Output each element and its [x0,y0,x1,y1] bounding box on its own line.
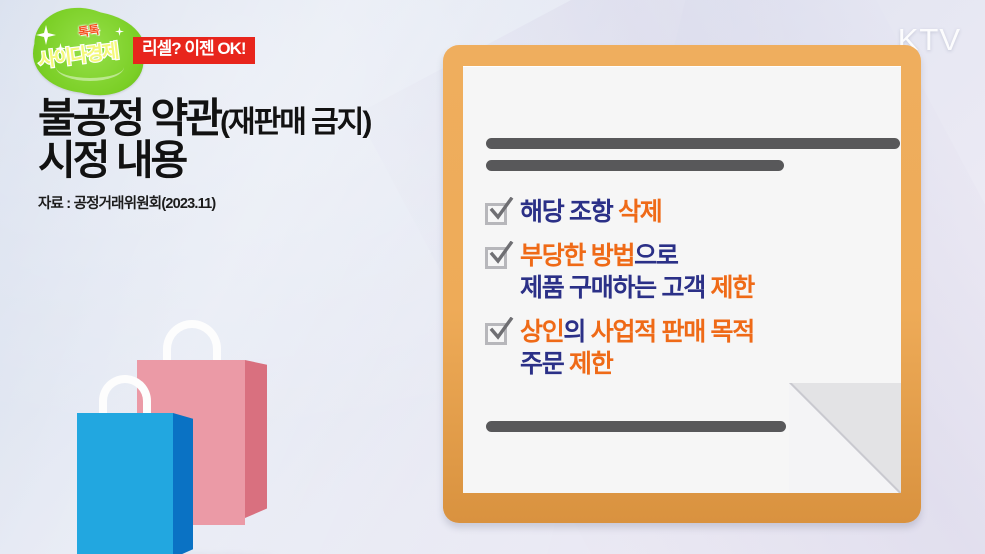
text-segment-highlight: 제한 [569,350,612,378]
text-segment-highlight: 상인 [520,318,563,346]
text-segment: 으로 [634,242,677,270]
program-logo: 톡톡 사이다경제 [22,8,146,92]
broadcast-graphic-stage: 톡톡 사이다경제 리셀? 이젠 OK! 불공정 약관(재판매 금지) 시정 내용… [0,0,985,554]
page-curl-decoration [789,383,901,493]
checkbox-checked-icon [485,201,510,226]
checklist-text-line: 부당한 방법으로 [520,240,754,272]
checklist-item: 해당 조항 삭제 [485,196,901,228]
text-segment: 주문 [520,350,569,378]
source-credit: 자료 : 공정거래위원회(2023.11) [38,192,458,213]
bag-front-panel [77,413,173,554]
checklist-item-text: 부당한 방법으로 제품 구매하는 고객 제한 [520,240,754,304]
checkbox-checked-icon [485,321,510,346]
card-paper: 해당 조항 삭제 부당한 방법으로 제품 구매하는 고객 제한 [463,66,901,493]
checklist-item-text: 해당 조항 삭제 [520,196,662,228]
checklist-text-line: 상인의 사업적 판매 목적 [520,316,754,348]
checklist-item: 부당한 방법으로 제품 구매하는 고객 제한 [485,240,901,304]
bag-side-panel [173,413,193,554]
headline-line-2: 시정 내용 [38,140,458,180]
shopping-bags-illustration [65,305,315,554]
headline-main-text: 불공정 약관 [38,95,220,141]
text-segment-highlight: 사업적 판매 목적 [591,318,754,346]
checkmark-icon [488,197,514,223]
bag-side-panel [245,360,267,518]
topic-tag: 리셀? 이젠 OK! [133,37,255,64]
checklist-item-text: 상인의 사업적 판매 목적 주문 제한 [520,316,754,380]
checklist-text-line: 제품 구매하는 고객 제한 [520,272,754,304]
redacted-bar-2 [486,160,784,171]
checklist-text-line: 주문 제한 [520,348,754,380]
headline-line-1: 불공정 약관(재판매 금지) [38,98,458,138]
text-segment: 해당 조항 [520,198,618,226]
text-segment: 의 [563,318,590,346]
headline-block: 불공정 약관(재판매 금지) 시정 내용 자료 : 공정거래위원회(2023.1… [38,98,458,213]
redacted-bar-1 [486,138,900,149]
checkbox-checked-icon [485,245,510,270]
info-card: 해당 조항 삭제 부당한 방법으로 제품 구매하는 고객 제한 [443,45,921,523]
text-segment-highlight: 삭제 [618,198,661,226]
headline-paren-text: (재판매 금지) [220,106,370,139]
checklist-item: 상인의 사업적 판매 목적 주문 제한 [485,316,901,380]
redacted-bar-3 [486,421,786,432]
text-segment-highlight: 제한 [711,274,754,302]
checkmark-icon [488,241,514,267]
checklist: 해당 조항 삭제 부당한 방법으로 제품 구매하는 고객 제한 [485,196,901,392]
shopping-bag-blue [77,413,193,554]
checkmark-icon [488,317,514,343]
text-segment: 제품 구매하는 고객 [520,274,711,302]
text-segment-highlight: 부당한 방법 [520,242,634,270]
